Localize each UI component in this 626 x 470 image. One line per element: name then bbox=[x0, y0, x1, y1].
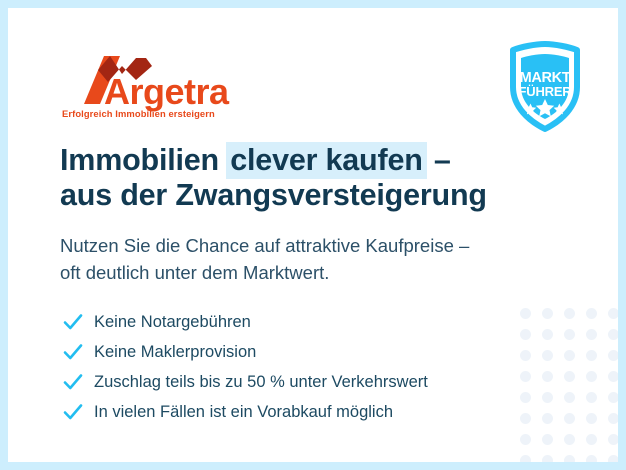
decorative-dot bbox=[608, 455, 618, 462]
decorative-dot bbox=[520, 413, 531, 424]
subheadline: Nutzen Sie die Chance auf attraktive Kau… bbox=[60, 232, 469, 286]
decorative-dot bbox=[542, 350, 553, 361]
decorative-dot bbox=[564, 392, 575, 403]
badge-line2: FÜHRER bbox=[519, 84, 573, 99]
check-icon bbox=[60, 309, 86, 335]
headline-line1-before: Immobilien bbox=[60, 143, 227, 177]
marktfuehrer-badge: MARKT FÜHRER bbox=[499, 41, 591, 133]
decorative-dot bbox=[564, 308, 575, 319]
benefit-item: Keine Maklerprovision bbox=[60, 337, 428, 367]
banner-card: Argetra Erfolgreich Immobilien ersteiger… bbox=[8, 8, 618, 462]
decorative-dot bbox=[564, 455, 575, 462]
benefit-item: Keine Notargebühren bbox=[60, 307, 428, 337]
decorative-dot bbox=[520, 455, 531, 462]
decorative-dot bbox=[586, 308, 597, 319]
decorative-dot bbox=[564, 371, 575, 382]
decorative-dot bbox=[542, 329, 553, 340]
headline-line1-after: – bbox=[426, 143, 451, 177]
decorative-dot bbox=[564, 434, 575, 445]
headline-line1: Immobilien clever kaufen – bbox=[60, 143, 451, 177]
decorative-dot bbox=[608, 392, 618, 403]
decorative-dot bbox=[586, 455, 597, 462]
subheadline-line1: Nutzen Sie die Chance auf attraktive Kau… bbox=[60, 235, 469, 256]
decorative-dot bbox=[520, 308, 531, 319]
benefit-label: Keine Notargebühren bbox=[94, 312, 251, 332]
benefit-item: In vielen Fällen ist ein Vorabkauf mögli… bbox=[60, 397, 428, 427]
benefit-list: Keine NotargebührenKeine Maklerprovision… bbox=[60, 307, 428, 427]
decorative-dot bbox=[608, 350, 618, 361]
decorative-dot bbox=[586, 434, 597, 445]
decorative-dot bbox=[542, 308, 553, 319]
logo-wordmark: Argetra bbox=[104, 71, 230, 112]
decorative-dot bbox=[542, 392, 553, 403]
benefit-label: Keine Maklerprovision bbox=[94, 342, 256, 362]
decorative-dot bbox=[520, 350, 531, 361]
argetra-logo: Argetra Erfolgreich Immobilien ersteiger… bbox=[60, 52, 260, 120]
decorative-dot-grid bbox=[520, 308, 618, 462]
check-icon bbox=[60, 399, 86, 425]
decorative-dot bbox=[586, 350, 597, 361]
decorative-dot bbox=[564, 413, 575, 424]
headline: Immobilien clever kaufen – aus der Zwang… bbox=[60, 143, 487, 213]
check-icon bbox=[60, 369, 86, 395]
decorative-dot bbox=[564, 350, 575, 361]
headline-highlight: clever kaufen bbox=[226, 142, 426, 179]
decorative-dot bbox=[542, 371, 553, 382]
benefit-label: Zuschlag teils bis zu 50 % unter Verkehr… bbox=[94, 372, 428, 392]
decorative-dot bbox=[542, 413, 553, 424]
benefit-label: In vielen Fällen ist ein Vorabkauf mögli… bbox=[94, 402, 393, 422]
benefit-item: Zuschlag teils bis zu 50 % unter Verkehr… bbox=[60, 367, 428, 397]
logo-tagline: Erfolgreich Immobilien ersteigern bbox=[62, 108, 215, 119]
headline-line2: aus der Zwangsversteigerung bbox=[60, 178, 487, 212]
decorative-dot bbox=[586, 413, 597, 424]
promo-banner: Argetra Erfolgreich Immobilien ersteiger… bbox=[0, 0, 626, 470]
decorative-dot bbox=[542, 434, 553, 445]
decorative-dot bbox=[608, 434, 618, 445]
decorative-dot bbox=[520, 434, 531, 445]
decorative-dot bbox=[608, 308, 618, 319]
decorative-dot bbox=[520, 371, 531, 382]
decorative-dot bbox=[608, 371, 618, 382]
decorative-dot bbox=[608, 413, 618, 424]
decorative-dot bbox=[608, 329, 618, 340]
check-icon bbox=[60, 339, 86, 365]
decorative-dot bbox=[586, 371, 597, 382]
decorative-dot bbox=[520, 329, 531, 340]
decorative-dot bbox=[520, 392, 531, 403]
decorative-dot bbox=[564, 329, 575, 340]
decorative-dot bbox=[586, 329, 597, 340]
subheadline-line2: oft deutlich unter dem Marktwert. bbox=[60, 262, 329, 283]
decorative-dot bbox=[586, 392, 597, 403]
decorative-dot bbox=[542, 455, 553, 462]
